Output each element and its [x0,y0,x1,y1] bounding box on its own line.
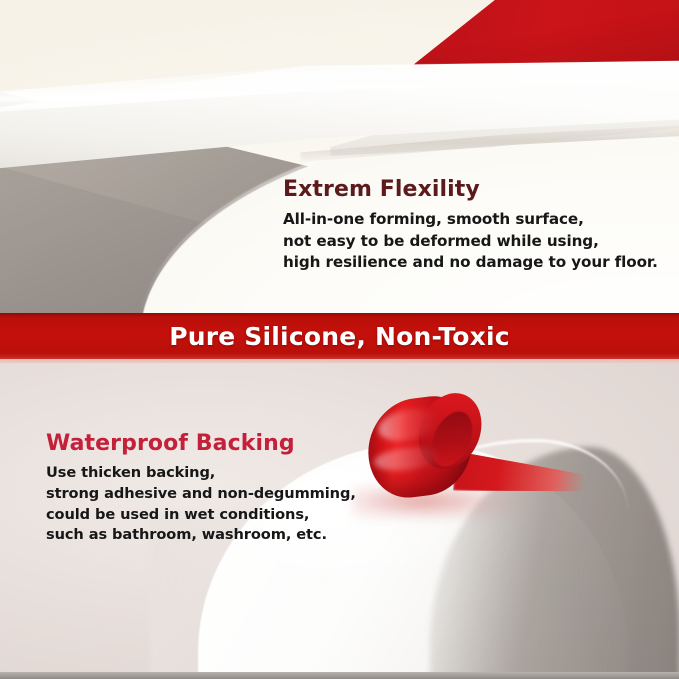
red-adhesive-roll-icon [368,392,480,502]
top-body-line-3: high resilience and no damage to your fl… [283,252,663,274]
bottom-body-line-4: such as bathroom, washroom, etc. [46,525,376,546]
center-banner: Pure Silicone, Non-Toxic [0,313,679,359]
top-text-block: Extrem Flexility All-in-one forming, smo… [283,178,663,274]
top-body-line-1: All-in-one forming, smooth surface, [283,209,663,231]
banner-text: Pure Silicone, Non-Toxic [169,322,510,351]
bottom-body-line-2: strong adhesive and non-degumming, [46,484,376,505]
product-feature-poster: Extrem Flexility All-in-one forming, smo… [0,0,679,679]
top-body-line-2: not easy to be deformed while using, [283,231,663,253]
bottom-text-block: Waterproof Backing Use thicken backing, … [46,432,376,546]
bottom-edge-strip [0,672,679,679]
bottom-body-line-3: could be used in wet conditions, [46,505,376,526]
top-headline: Extrem Flexility [283,178,663,202]
bottom-body-line-1: Use thicken backing, [46,463,376,484]
bottom-headline: Waterproof Backing [46,432,376,456]
